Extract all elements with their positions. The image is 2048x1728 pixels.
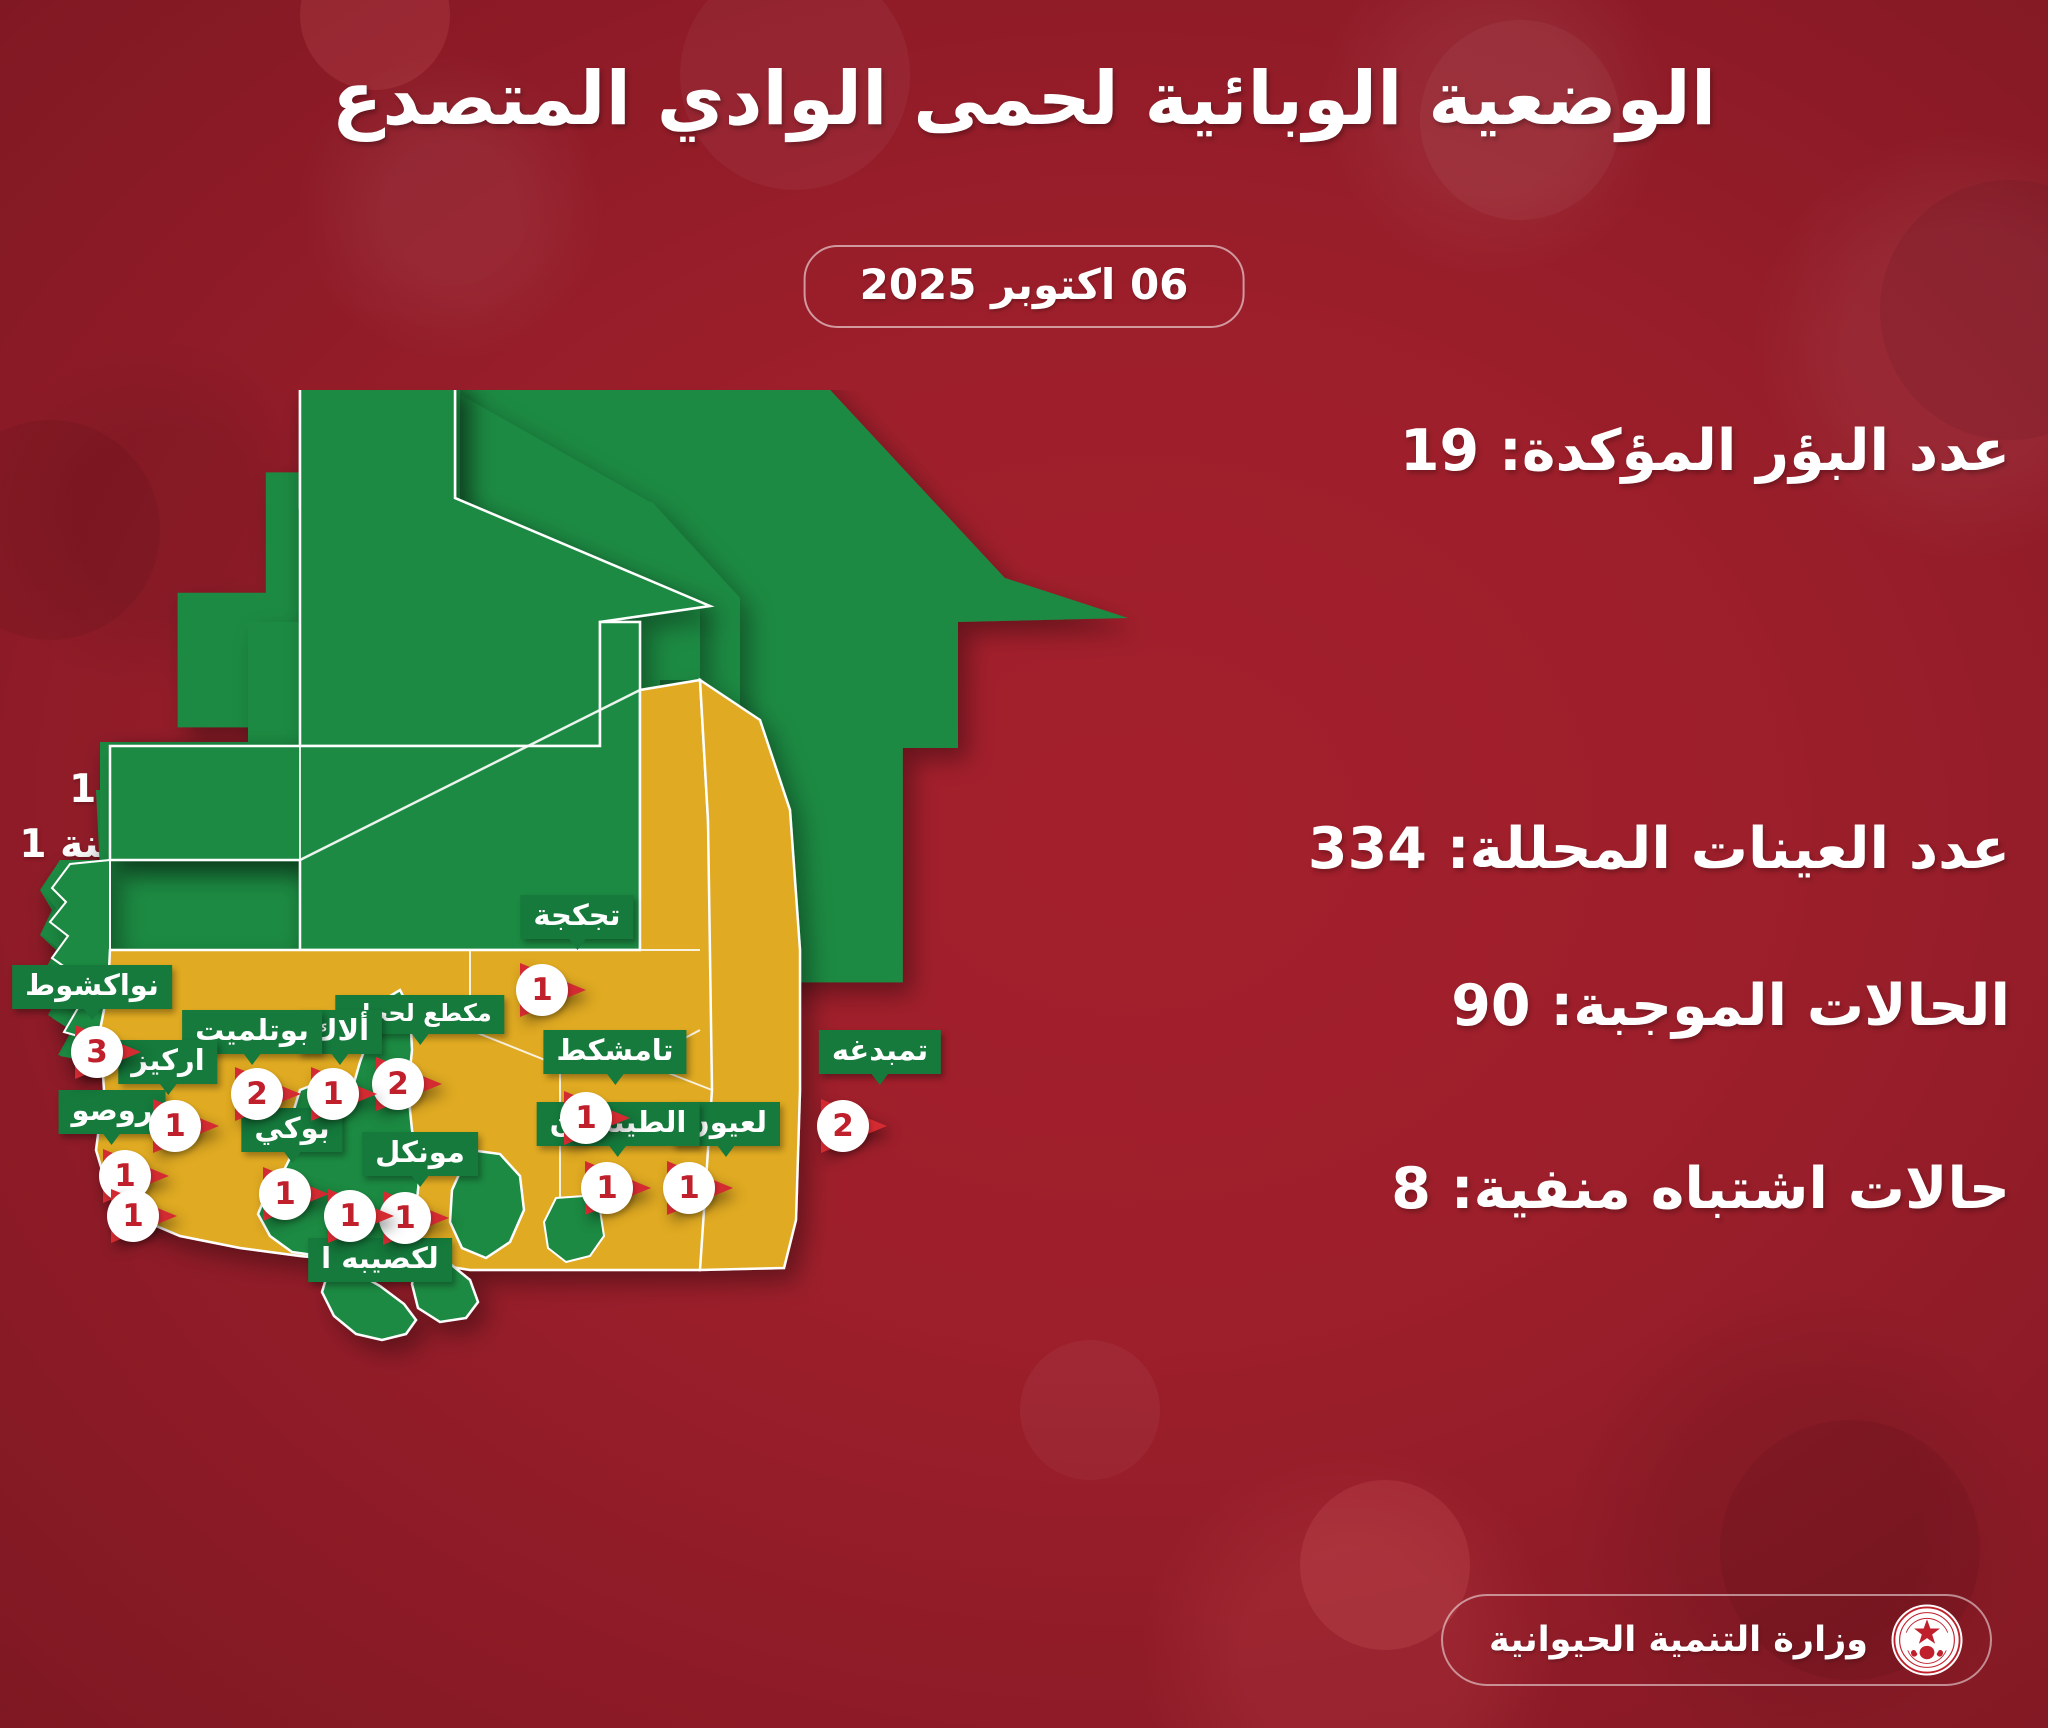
marker-count: 3 (71, 1026, 123, 1078)
marker-count: 2 (817, 1100, 869, 1152)
map-marker-timbedra: 2 (815, 1095, 893, 1157)
page-title: الوضعية الوبائية لحمى الوادي المتصدع (0, 58, 2048, 141)
map-marker-boutilimit: 2 (229, 1063, 307, 1125)
ministry-footer-badge: وزارة التنمية الحيوانية (1441, 1594, 1992, 1686)
tag-label: تجكجة (533, 898, 620, 932)
map-marker-tintane: 1 (579, 1157, 657, 1219)
ministry-name: وزارة التنمية الحيوانية (1489, 1620, 1868, 1660)
map-tag-timbedra: تمبدغه (819, 1030, 941, 1074)
marker-count: 1 (307, 1068, 359, 1120)
tag-label: نواكشوط (25, 968, 159, 1002)
infographic-poster: الوضعية الوبائية لحمى الوادي المتصدع 06 … (0, 0, 2048, 1728)
mauritania-map: تجكجة نواكشوط مكطع لحجار ألاك بوتلميت تا… (0, 390, 1180, 1650)
marker-count: 1 (516, 964, 568, 1016)
marker-count: 1 (663, 1162, 715, 1214)
map-marker-kaedi: 1 (105, 1185, 183, 1247)
map-marker-nouakchott: 3 (69, 1021, 147, 1083)
map-marker-tamchakett: 1 (558, 1087, 636, 1149)
marker-count: 1 (259, 1168, 311, 1220)
tag-label: تامشكط (556, 1033, 673, 1067)
date-badge: 06 اكتوبر 2025 (804, 245, 1245, 328)
marker-count: 1 (107, 1190, 159, 1242)
marker-count: 1 (581, 1162, 633, 1214)
map-tag-monguel: مونكل (362, 1132, 478, 1176)
map-marker-mbout: 1 (322, 1185, 400, 1247)
ministry-seal-icon (1890, 1603, 1964, 1677)
map-tag-tamchakett: تامشكط (543, 1030, 686, 1074)
tag-label: مونكل (375, 1135, 465, 1169)
tag-label: تمبدغه (832, 1033, 928, 1067)
map-marker-layoune: 1 (661, 1157, 739, 1219)
map-tag-nouakchott: نواكشوط (12, 965, 172, 1009)
virus-blob-decoration (1880, 180, 2048, 440)
marker-count: 2 (231, 1068, 283, 1120)
map-marker-tidjikja: 1 (514, 959, 592, 1021)
marker-count: 1 (560, 1092, 612, 1144)
map-marker-aleg: 1 (305, 1063, 383, 1125)
tag-label: روصو (72, 1093, 153, 1127)
marker-count: 1 (324, 1190, 376, 1242)
map-tag-tidjikja: تجكجة (520, 895, 633, 939)
